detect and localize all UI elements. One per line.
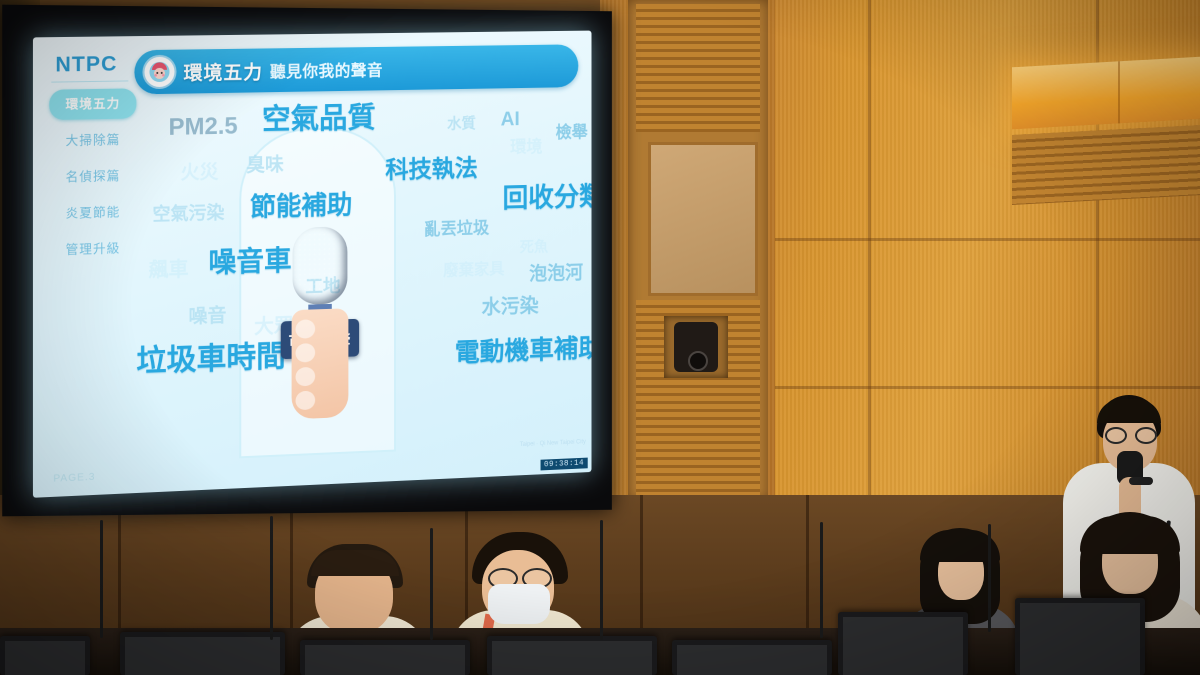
word-cloud-term: 噪音: [189, 306, 227, 326]
speaker-glasses-left: [1105, 427, 1127, 444]
microphone-icon: [293, 226, 348, 305]
monitor-4[interactable]: [672, 640, 832, 675]
word-cloud-term: 空氣污染: [152, 204, 224, 224]
wall-niche: [628, 0, 768, 500]
sidebar-item-2[interactable]: 名偵探篇: [49, 161, 136, 193]
ntpc-logo: NTPC: [55, 52, 117, 77]
monitor-screen: [305, 645, 465, 675]
camera-recess: [664, 316, 728, 378]
desk-mic-4: [600, 520, 603, 640]
desk-mic-2: [270, 516, 273, 640]
desk-mic-1: [100, 520, 103, 638]
word-cloud-term: 回收分類: [503, 184, 592, 213]
monitor-screen: [492, 641, 652, 675]
monitor-screen: [677, 645, 827, 675]
wrist-watch: [1129, 477, 1153, 485]
monitor-screen: [125, 637, 280, 675]
word-cloud-term: 科技執法: [385, 157, 477, 183]
attendee-hair-front: [1080, 516, 1180, 554]
knuckle: [296, 367, 316, 387]
speaker-glasses-right: [1135, 427, 1157, 444]
word-cloud-term: 空氣品質: [262, 104, 376, 135]
slide-sidebar: 環境五力 大掃除篇 名偵探篇 炎夏節能 管理升級: [49, 88, 136, 271]
word-cloud-term: 垃圾車時間: [136, 342, 285, 377]
hand-graphic: [292, 308, 349, 419]
desk-mic-3: [430, 528, 433, 640]
word-cloud-term: 水污染: [482, 296, 539, 317]
speaker-hair-top: [1097, 399, 1161, 423]
sidebar-item-3[interactable]: 炎夏節能: [49, 197, 136, 229]
desk-mic-6: [988, 524, 991, 632]
attendee-hair-front: [311, 550, 399, 576]
word-cloud-term: 亂丟垃圾: [424, 220, 489, 238]
word-cloud-term: PM2.5: [169, 115, 238, 140]
monitor-2[interactable]: [300, 640, 470, 675]
word-cloud-term: AI: [501, 109, 520, 129]
word-cloud-term: 噪音車: [208, 247, 291, 277]
sidebar-item-0[interactable]: 環境五力: [49, 88, 136, 120]
face-mask: [488, 584, 550, 624]
knuckle: [296, 343, 316, 363]
monitor-0[interactable]: [0, 636, 90, 675]
conference-room-photo: NTPC 環境五力 大掃除篇 名偵探篇 炎夏節能 管理升級: [0, 0, 1200, 675]
knuckle: [296, 319, 316, 339]
banner-subtitle: 聽見你我的聲音: [270, 57, 383, 82]
word-cloud-term: 環境: [510, 138, 542, 155]
cove-light: [1012, 57, 1200, 130]
camera-lens-icon: [674, 322, 718, 372]
word-cloud-term: 檢舉: [556, 124, 588, 141]
projection-screen: NTPC 環境五力 大掃除篇 名偵探篇 炎夏節能 管理升級: [33, 31, 592, 498]
sidebar-item-1[interactable]: 大掃除篇: [49, 124, 136, 156]
word-cloud-term: 節能補助: [250, 192, 352, 220]
mascot-avatar-icon: [144, 57, 174, 88]
word-cloud-term: 泡泡河: [529, 264, 583, 284]
monitor-5[interactable]: [838, 612, 968, 675]
monitor-screen: [1020, 603, 1140, 675]
sidebar-divider: [51, 80, 128, 82]
monitor-screen: [5, 641, 85, 675]
word-cloud-term: 電動機車補助: [455, 335, 592, 366]
monitor-6[interactable]: [1015, 598, 1145, 675]
word-cloud-term: 飆車: [148, 260, 188, 281]
knuckle: [296, 391, 316, 411]
page-label: PAGE.3: [53, 472, 95, 485]
sidebar-item-4[interactable]: 管理升級: [49, 233, 136, 266]
projection-screen-frame: NTPC 環境五力 大掃除篇 名偵探篇 炎夏節能 管理升級: [2, 5, 612, 517]
light-divider: [1118, 61, 1120, 123]
desk-mic-5: [820, 522, 823, 638]
banner-title: 環境五力: [184, 57, 263, 85]
wall-seam: [760, 238, 1200, 241]
monitor-screen: [843, 617, 963, 675]
word-cloud-term: 臭味: [246, 155, 284, 175]
word-cloud-term: 廢棄家具: [443, 262, 504, 280]
presentation-slide: NTPC 環境五力 大掃除篇 名偵探篇 炎夏節能 管理升級: [33, 31, 592, 498]
timestamp-badge: 09:38:14: [540, 458, 588, 471]
word-cloud-term: 火災: [181, 163, 219, 183]
acoustic-slats: [1012, 125, 1200, 205]
word-cloud-term: 水質: [447, 116, 476, 131]
wall-seam: [760, 386, 1200, 389]
niche-window: [648, 142, 758, 296]
acoustic-slats: [636, 4, 760, 132]
word-cloud-term: 死魚: [520, 239, 548, 254]
monitor-3[interactable]: [487, 636, 657, 675]
monitor-1[interactable]: [120, 632, 285, 675]
slide-banner: 環境五力 聽見你我的聲音: [134, 44, 578, 94]
